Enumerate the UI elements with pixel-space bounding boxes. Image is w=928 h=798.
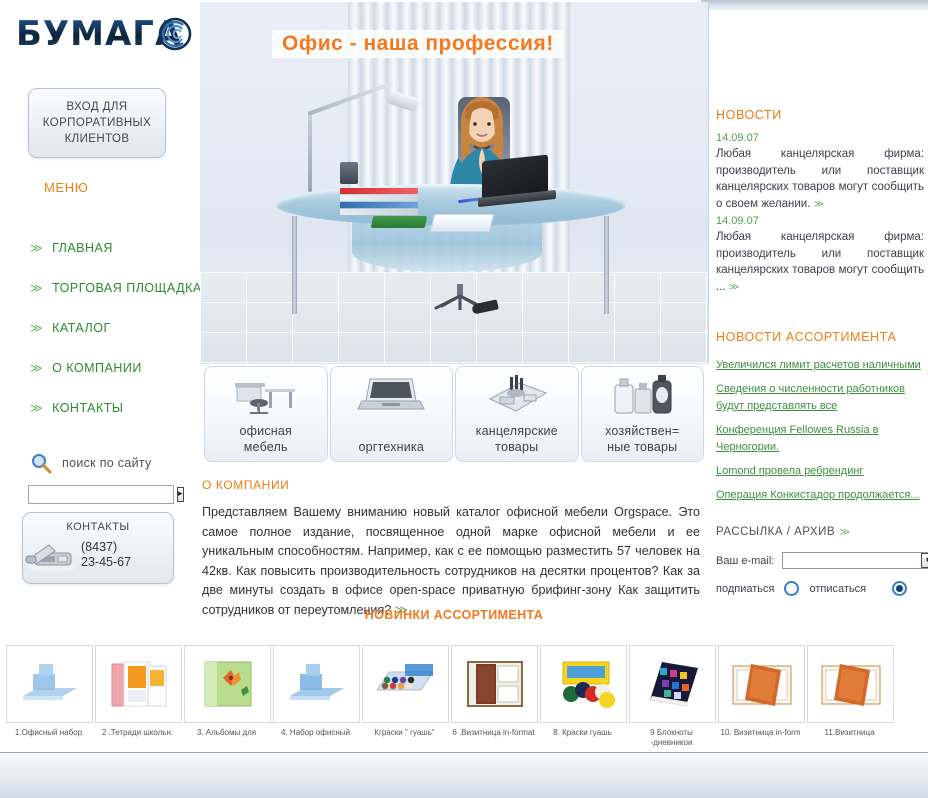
search-label-row: поиск по сайту xyxy=(30,452,152,474)
category-stationery[interactable]: канцелярские товары xyxy=(455,366,579,462)
corp-line-1: ВХОД ДЛЯ xyxy=(43,99,151,115)
assortment-link[interactable]: Увеличился лимит расчетов наличными xyxy=(716,357,926,374)
list-item: 11.Визитница xyxy=(807,645,892,748)
mailing-block: РАССЫЛКА / АРХИВ ≫ Ваш e-mail: ▸ подпиат… xyxy=(716,522,924,596)
list-item: 9 Блокноты -дневникои xyxy=(629,645,714,748)
email-label: Ваш e-mail: xyxy=(716,555,774,567)
phone-numbers: (8437) 23-45-67 xyxy=(81,540,131,570)
list-item: 3. Альбомы для xyxy=(184,645,269,748)
household-goods-icon xyxy=(605,373,679,417)
product-thumb[interactable] xyxy=(184,645,271,723)
subscribe-label: подпиаться xyxy=(716,583,774,595)
product-caption: 11.Визитница xyxy=(807,728,892,738)
email-field[interactable] xyxy=(783,554,921,567)
subscription-options: подпиаться отписаться xyxy=(716,581,924,596)
site-logo[interactable]: БУМАГА xyxy=(16,8,196,60)
category-label-line2: товары xyxy=(476,439,558,455)
news-date: 14.09.07 xyxy=(716,132,924,144)
product-thumb[interactable] xyxy=(451,645,538,723)
subscribe-radio[interactable] xyxy=(784,581,799,596)
office-furniture-icon xyxy=(229,373,303,417)
sidebar-item-kontakty[interactable]: ≫ КОНТАКТЫ xyxy=(30,388,200,428)
list-item: 2 .Тетради школьн. xyxy=(95,645,180,748)
contacts-body: (8437) 23-45-67 xyxy=(23,537,173,573)
search-label: поиск по сайту xyxy=(62,456,152,470)
news-more-icon[interactable]: ≫ xyxy=(729,282,739,293)
news-more-icon[interactable]: ≫ xyxy=(814,199,824,210)
news-item: 14.09.07 Любая канцелярская фирма: произ… xyxy=(716,215,924,296)
product-thumb[interactable] xyxy=(540,645,627,723)
assortment-news-heading: НОВОСТИ АССОРТИМЕНТА xyxy=(716,330,896,344)
album-green-butterfly-icon xyxy=(193,656,263,712)
hero-slogan: Офис - наша профессия! xyxy=(272,30,564,58)
assortment-link[interactable]: Операция Конкистадор продолжается... xyxy=(716,487,926,504)
category-label-line2: ные товары xyxy=(605,439,679,455)
sidebar-item-o-kompanii[interactable]: ≫ О КОМПАНИИ xyxy=(30,348,200,388)
list-item: 1.Офисный набор xyxy=(6,645,91,748)
sidebar: БУМАГА ВХОД ДЛЯ КОРПОРАТИВНЫХ КЛИЕНТОВ М… xyxy=(0,0,198,745)
contacts-box[interactable]: КОНТАКТЫ (8437) 23-45-67 xyxy=(22,512,174,584)
lamp-post xyxy=(308,114,312,192)
hero-banner: Офис - наша профессия! xyxy=(200,2,709,364)
product-caption: Кграски " гуашь" xyxy=(362,728,447,738)
laptop-icon xyxy=(354,373,428,417)
desk-leg-left xyxy=(292,216,297,314)
chevron-right-icon: ≫ xyxy=(30,401,43,415)
concentric-c-mark-icon xyxy=(158,17,192,51)
list-item: 10. Визитница in-form xyxy=(718,645,803,748)
main-content: Офис - наша профессия! офисная мебель xyxy=(198,0,710,745)
corp-line-2: КОРПОРАТИВНЫХ xyxy=(43,115,151,131)
search-submit-button[interactable]: ▸ xyxy=(177,487,184,502)
assortment-link[interactable]: Сведения о численности работников будут … xyxy=(716,381,926,415)
main-navigation: ≫ ГЛАВНАЯ ≫ ТОРГОВАЯ ПЛОЩАДКА ≫ КАТАЛОГ … xyxy=(30,228,200,428)
phone-code: (8437) xyxy=(81,540,131,555)
mailing-more-icon[interactable]: ≫ xyxy=(840,527,850,538)
product-caption: 1.Офисный набор xyxy=(6,728,91,738)
chevron-right-icon: ≫ xyxy=(30,281,43,295)
sidebar-item-torgovaya-ploshchadka[interactable]: ≫ ТОРГОВАЯ ПЛОЩАДКА xyxy=(30,268,200,308)
category-label-line1: канцелярские xyxy=(476,423,558,439)
gouache-paint-jars-icon xyxy=(549,656,619,712)
category-office-equipment[interactable]: оргтехника xyxy=(330,366,454,462)
product-thumb[interactable] xyxy=(273,645,360,723)
sidebar-item-katalog[interactable]: ≫ КАТАЛОГ xyxy=(30,308,200,348)
news-body: Любая канцелярская фирма: производитель … xyxy=(716,231,924,293)
about-heading: О КОМПАНИИ xyxy=(202,478,289,492)
pen-cup xyxy=(340,162,358,184)
product-thumb[interactable] xyxy=(95,645,182,723)
nav-label: ТОРГОВАЯ ПЛОЩАДКА xyxy=(52,281,202,295)
book-stack xyxy=(340,188,418,214)
product-thumb[interactable] xyxy=(718,645,805,723)
desk-organizer-blue-icon xyxy=(282,656,352,712)
product-caption: 2 .Тетради школьн. xyxy=(95,728,180,738)
chevron-right-icon: ≫ xyxy=(30,361,43,375)
card-holder-orange-icon xyxy=(727,656,797,712)
product-list: 1.Офисный набор 2 .Тетради школьн. xyxy=(0,645,928,748)
email-box: ▸ xyxy=(782,552,928,569)
search-box: ▸ xyxy=(28,485,174,504)
green-folder xyxy=(371,216,428,228)
assortment-link[interactable]: Конференция Fellowes Russia в Черногории… xyxy=(716,422,926,456)
about-text: Представляем Вашему вниманию новый катал… xyxy=(202,505,700,617)
unsubscribe-label: отписаться xyxy=(809,583,866,595)
desk-leg-right xyxy=(604,216,609,314)
about-paragraph: Представляем Вашему вниманию новый катал… xyxy=(202,503,700,620)
mailing-heading: РАССЫЛКА / АРХИВ xyxy=(716,526,835,538)
product-caption: 4. Набор офисный xyxy=(273,728,358,738)
menu-heading: МЕНЮ xyxy=(44,180,88,195)
nav-label: О КОМПАНИИ xyxy=(52,361,142,375)
sidebar-item-glavnaya[interactable]: ≫ ГЛАВНАЯ xyxy=(30,228,200,268)
search-input[interactable] xyxy=(29,487,177,502)
product-thumb[interactable] xyxy=(6,645,93,723)
page-root: БУМАГА ВХОД ДЛЯ КОРПОРАТИВНЫХ КЛИЕНТОВ М… xyxy=(0,0,928,797)
unsubscribe-radio[interactable] xyxy=(892,581,907,596)
category-label-line1: оргтехника xyxy=(358,439,424,455)
new-items-heading: НОВИНКИ АССОРТИМЕНТА xyxy=(198,608,710,622)
right-column: НОВОСТИ 14.09.07 Любая канцелярская фирм… xyxy=(712,0,928,745)
watercolor-paint-set-icon xyxy=(371,656,441,712)
list-item: Кграски " гуашь" xyxy=(362,645,447,748)
chevron-right-icon: ≫ xyxy=(30,321,43,335)
product-caption: 3. Альбомы для xyxy=(184,728,269,738)
product-caption: 9 Блокноты -дневникои xyxy=(629,728,714,748)
product-thumb[interactable] xyxy=(807,645,894,723)
email-row: Ваш e-mail: ▸ xyxy=(716,552,924,569)
news-heading: НОВОСТИ xyxy=(716,108,782,122)
contacts-title: КОНТАКТЫ xyxy=(23,521,173,533)
list-item: 8. Краски гуашь xyxy=(540,645,625,748)
mailing-heading-row: РАССЫЛКА / АРХИВ ≫ xyxy=(716,522,924,540)
product-thumb[interactable] xyxy=(362,645,449,723)
footer-bar xyxy=(0,752,928,798)
corporate-login-button[interactable]: ВХОД ДЛЯ КОРПОРАТИВНЫХ КЛИЕНТОВ xyxy=(28,88,166,158)
stationery-icon xyxy=(480,373,554,417)
card-holder-brown-icon xyxy=(460,656,530,712)
category-household-goods[interactable]: хозяйствен= ные товары xyxy=(581,366,705,462)
category-label-line1: хозяйствен= xyxy=(605,423,679,439)
card-holder-orange-icon xyxy=(816,656,886,712)
category-office-furniture[interactable]: офисная мебель xyxy=(204,366,328,462)
new-products-strip: 1.Офисный набор 2 .Тетради школьн. xyxy=(0,645,928,745)
email-submit-button[interactable]: ▸ xyxy=(921,553,928,568)
news-text: Любая канцелярская фирма: производитель … xyxy=(716,146,924,213)
nav-label: ГЛАВНАЯ xyxy=(52,241,113,255)
news-date: 14.09.07 xyxy=(716,215,924,227)
corp-line-3: КЛИЕНТОВ xyxy=(43,131,151,147)
assortment-link[interactable]: Lomond провела ребрендинг xyxy=(716,463,926,480)
notebooks-orange-icon xyxy=(104,656,174,712)
product-caption: 10. Визитница in-form xyxy=(718,728,803,738)
desk-organizer-blue-icon xyxy=(15,656,85,712)
notebook-patterned-icon xyxy=(638,656,708,712)
product-caption: 6 .Визитница in-format xyxy=(451,728,536,738)
category-label-line1: офисная xyxy=(240,423,293,439)
category-label-line2: мебель xyxy=(240,439,293,455)
nav-label: КАТАЛОГ xyxy=(52,321,111,335)
list-item: 6 .Визитница in-format xyxy=(451,645,536,748)
search-icon xyxy=(30,452,52,474)
assortment-links: Увеличился лимит расчетов наличными Свед… xyxy=(716,357,926,511)
list-item: 4. Набор офисный xyxy=(273,645,358,748)
paper-sheets xyxy=(430,214,494,232)
phone-number: 23-45-67 xyxy=(81,555,131,570)
chevron-right-icon: ≫ xyxy=(30,241,43,255)
telephone-icon xyxy=(23,537,81,573)
product-thumb[interactable] xyxy=(629,645,716,723)
product-caption: 8. Краски гуашь xyxy=(540,728,625,738)
category-tiles: офисная мебель оргтехника xyxy=(204,366,704,462)
news-item: 14.09.07 Любая канцелярская фирма: произ… xyxy=(716,132,924,213)
news-text: Любая канцелярская фирма: производитель … xyxy=(716,229,924,296)
nav-label: КОНТАКТЫ xyxy=(52,401,123,415)
